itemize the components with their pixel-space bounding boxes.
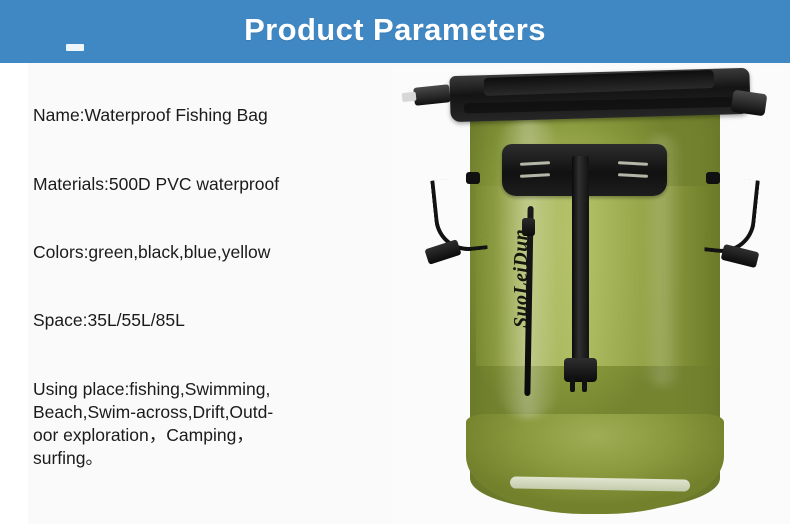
side-tab-right-icon — [721, 244, 760, 268]
using-place-line-3: oor exploration，Camping， — [33, 424, 363, 447]
side-strap-right — [704, 176, 760, 257]
buckle-left-icon — [413, 84, 451, 106]
left-margin-strip — [0, 63, 28, 524]
product-parameters-page: Product Parameters Name:Waterproof Fishi… — [0, 0, 790, 524]
using-place-line-4: surfing。 — [33, 447, 363, 470]
using-place-line-1: Using place:fishing,Swimming, — [33, 378, 363, 401]
header-bar: Product Parameters — [0, 0, 790, 63]
brand-label: SuoLeiDun — [510, 229, 533, 328]
page-title: Product Parameters — [0, 0, 790, 63]
center-strap — [572, 156, 589, 366]
spec-item-materials: Materials:500D PVC waterproof — [33, 173, 279, 196]
spec-list: Name:Waterproof Fishing Bag Materials:50… — [33, 63, 383, 524]
strap-clip-icon — [564, 358, 597, 382]
header-dash-marker — [66, 44, 84, 51]
spec-item-name: Name:Waterproof Fishing Bag — [33, 104, 268, 127]
spec-item-colors: Colors:green,black,blue,yellow — [33, 241, 270, 264]
spec-item-using-place: Using place:fishing,Swimming, Beach,Swim… — [33, 378, 363, 470]
buckle-right-icon — [731, 90, 768, 117]
product-image: SuoLeiDun — [392, 66, 790, 524]
side-strap-left — [430, 176, 487, 255]
side-tab-left-icon — [424, 239, 461, 265]
using-place-line-2: Beach,Swim-across,Drift,Outd- — [33, 401, 363, 424]
spec-item-space: Space:35L/55L/85L — [33, 309, 185, 332]
